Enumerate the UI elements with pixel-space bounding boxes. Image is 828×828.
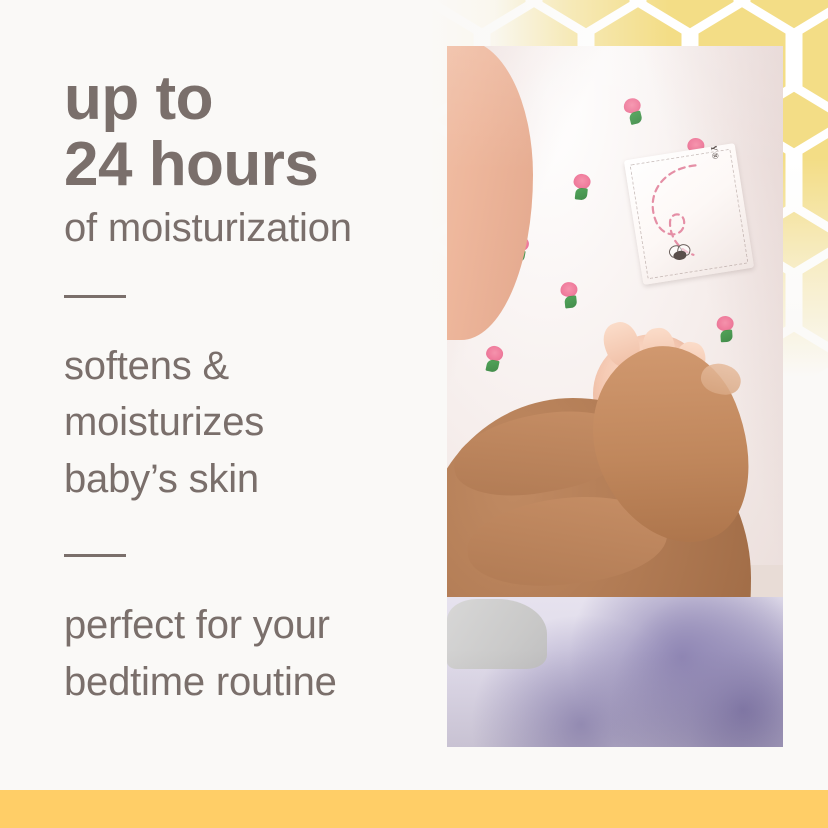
page-title: up to 24 hours (64, 66, 424, 199)
bottom-gold-bar (0, 790, 828, 828)
benefit-1-line-3: baby’s skin (64, 451, 424, 508)
benefit-2-line-1: perfect for your (64, 597, 424, 654)
photo-content: BURT'S BEES BABY® (447, 46, 783, 747)
headline-subtitle: of moisturization (64, 205, 424, 251)
benefit-2-line-2: bedtime routine (64, 654, 424, 711)
photo-vignette (447, 46, 783, 747)
lifestyle-photo: BURT'S BEES BABY® (447, 46, 783, 747)
headline-line-2: 24 hours (64, 132, 424, 198)
benefit-1-line-2: moisturizes (64, 394, 424, 451)
headline-line-1: up to (64, 66, 424, 132)
promo-canvas: up to 24 hours of moisturization softens… (0, 0, 828, 828)
benefit-block-1: softens & moisturizes baby’s skin (64, 338, 424, 508)
benefit-block-2: perfect for your bedtime routine (64, 597, 424, 711)
benefit-1-line-1: softens & (64, 338, 424, 395)
divider-rule-bottom (64, 554, 126, 557)
copy-column: up to 24 hours of moisturization softens… (64, 66, 424, 711)
divider-rule-top (64, 295, 126, 298)
